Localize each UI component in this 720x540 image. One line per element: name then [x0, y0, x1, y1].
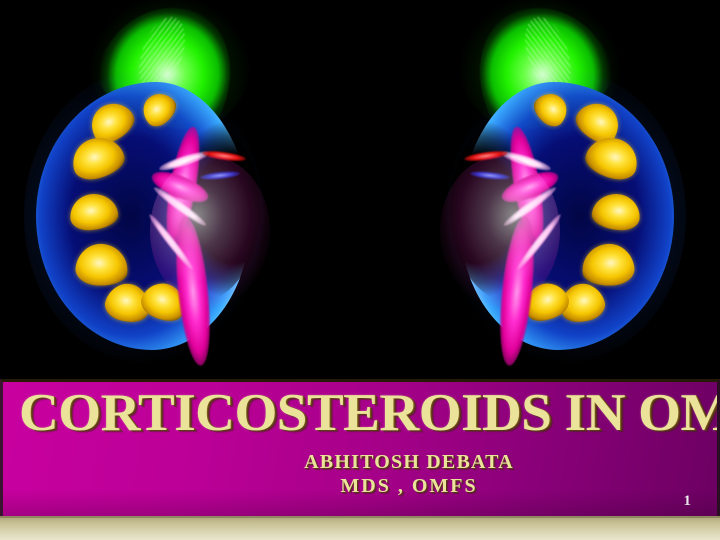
author-block: ABHITOSH DEBATA MDS , OMFS	[199, 450, 619, 498]
slide-number: 1	[684, 493, 692, 510]
author-name: ABHITOSH DEBATA	[199, 450, 619, 474]
title-banner: CORTICOSTEROIDS IN OMFS ABHITOSH DEBATA …	[0, 379, 720, 516]
slide-image-kidneys	[0, 0, 720, 379]
kidney-illustration-left	[30, 6, 290, 376]
footer-strip	[0, 516, 720, 540]
kidney-illustration-right	[420, 6, 680, 376]
page-title: CORTICOSTEROIDS IN OMFS	[19, 380, 720, 446]
presentation-slide: CORTICOSTEROIDS IN OMFS ABHITOSH DEBATA …	[0, 0, 720, 540]
author-credentials: MDS , OMFS	[199, 474, 619, 498]
